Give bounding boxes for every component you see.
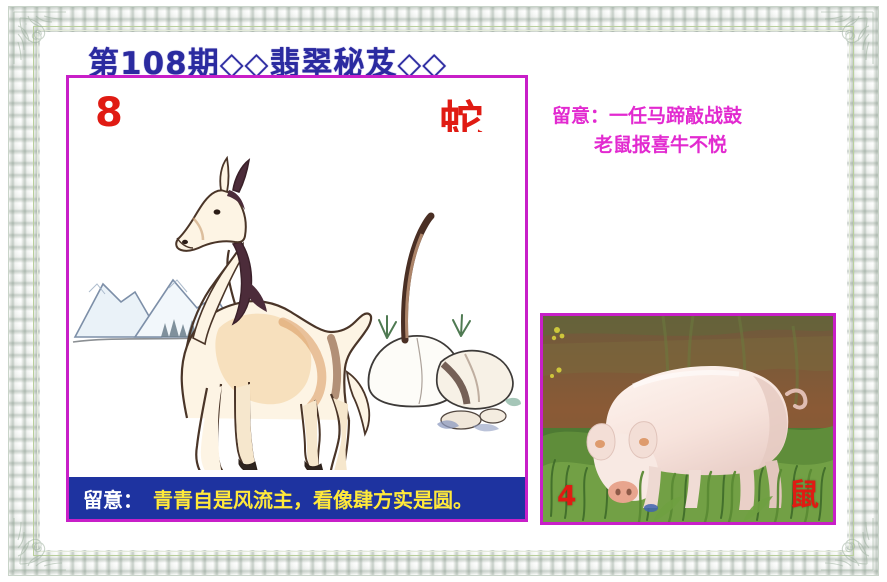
poster-canvas: 第108期◇◇翡翠秘芨◇◇ 8 蛇 bbox=[0, 0, 887, 582]
side-note: 留意：一任马蹄敲战鼓 老鼠报喜牛不悦 bbox=[552, 102, 842, 161]
main-caption-bar: 留意： 青青自是风流主，看像肆方实是圆。 bbox=[69, 477, 525, 519]
caption-label: 留意： bbox=[83, 484, 143, 513]
photo-number: 4 bbox=[557, 479, 576, 512]
poster-content: 第108期◇◇翡翠秘芨◇◇ 8 蛇 bbox=[40, 26, 847, 552]
main-illustration-panel: 8 蛇 bbox=[66, 75, 528, 522]
pig-photo: 4 鼠 bbox=[540, 313, 836, 525]
panel-number: 8 bbox=[95, 90, 123, 136]
photo-zodiac-label: 鼠 bbox=[789, 470, 819, 514]
caption-text: 青青自是风流主，看像肆方实是圆。 bbox=[153, 484, 473, 513]
side-note-line2: 老鼠报喜牛不悦 bbox=[552, 131, 842, 160]
horse-illustration bbox=[69, 132, 525, 470]
side-note-line1: 留意：一任马蹄敲战鼓 bbox=[552, 105, 742, 127]
